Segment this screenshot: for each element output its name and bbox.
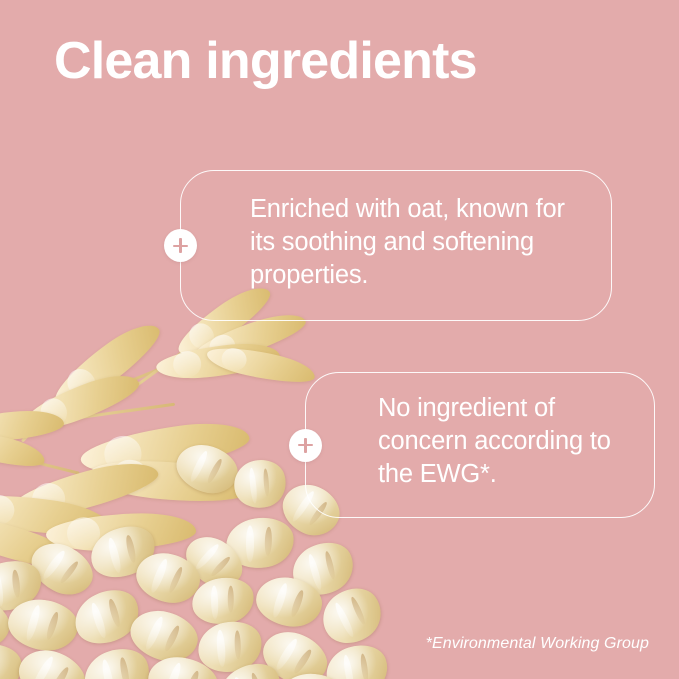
plus-icon-vertical-bar xyxy=(304,438,306,453)
oat-flake xyxy=(320,638,394,679)
feature-card-text: No ingredient of concern according to th… xyxy=(378,392,648,491)
footnote: *Environmental Working Group xyxy=(426,635,649,653)
plus-icon[interactable] xyxy=(289,429,322,462)
promo-graphic: Clean ingredients xyxy=(0,0,679,679)
plus-icon[interactable] xyxy=(164,229,197,262)
plus-icon-vertical-bar xyxy=(179,238,181,253)
feature-card-ewg-benefit[interactable]: No ingredient of concern according to th… xyxy=(305,372,655,518)
page-title: Clean ingredients xyxy=(54,33,477,90)
feature-card-oat-benefit[interactable]: Enriched with oat, known for its soothin… xyxy=(180,170,612,321)
feature-card-text: Enriched with oat, known for its soothin… xyxy=(250,193,595,292)
